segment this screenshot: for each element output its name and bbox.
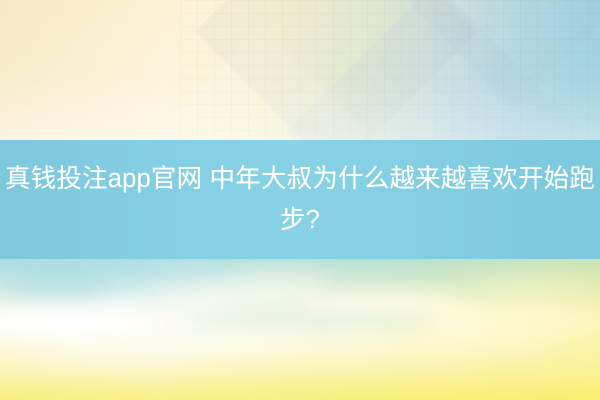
banner-canvas: 真钱投注app官网 中年大叔为什么越来越喜欢开始跑步? (0, 0, 600, 400)
top-region-fade-overlay (0, 0, 600, 140)
banner-title-text: 真钱投注app官网 中年大叔为什么越来越喜欢开始跑步? (0, 159, 600, 241)
sky-warm-overlay (0, 259, 600, 400)
top-decorative-region (0, 0, 600, 140)
title-banner: 真钱投注app官网 中年大叔为什么越来越喜欢开始跑步? (0, 140, 600, 259)
sky-region (0, 259, 600, 400)
